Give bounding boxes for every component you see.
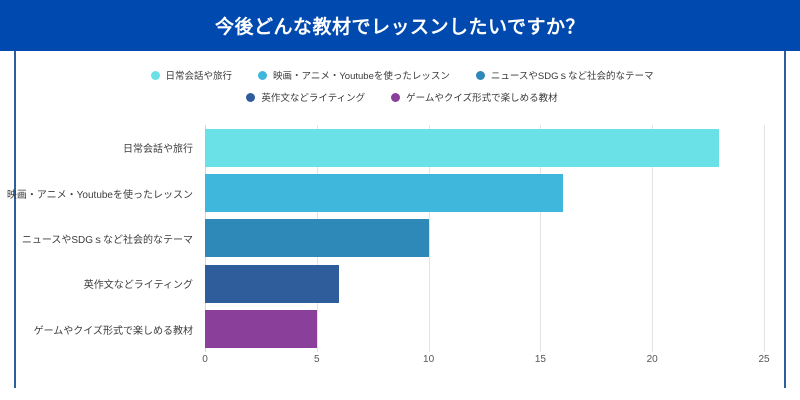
x-axis-tick-label: 15	[535, 354, 546, 365]
chart-header-banner: 今後どんな教材でレッスンしたいですか？	[0, 0, 800, 51]
plot-area: 日常会話や旅行映画・アニメ・Youtubeを使ったレッスンニュースやSDGｓなど…	[16, 51, 788, 388]
y-axis-tick-row: 英作文などライティング	[16, 261, 199, 306]
x-axis-tick-label: 5	[314, 354, 320, 365]
bar[interactable]	[205, 174, 563, 212]
y-axis-tick-row: ゲームやクイズ形式で楽しめる教材	[16, 307, 199, 352]
bar-row	[205, 125, 764, 170]
y-axis-tick-label: ゲームやクイズ形式で楽しめる教材	[34, 322, 199, 337]
bar-row	[205, 170, 764, 215]
x-axis-tick-label: 0	[202, 354, 208, 365]
page-title: 今後どんな教材でレッスンしたいですか？	[215, 12, 585, 39]
chart-screenshot: 今後どんな教材でレッスンしたいですか？ 日常会話や旅行映画・アニメ・Youtub…	[0, 0, 800, 400]
y-axis-tick-row: 映画・アニメ・Youtubeを使ったレッスン	[16, 170, 199, 215]
y-axis-tick-label: 英作文などライティング	[84, 276, 199, 291]
x-axis-labels: 0510152025	[205, 354, 764, 374]
y-axis-tick-label: 映画・アニメ・Youtubeを使ったレッスン	[7, 186, 199, 201]
bars-container	[205, 125, 764, 352]
x-axis-tick-label: 10	[423, 354, 434, 365]
x-axis-tick-label: 25	[758, 354, 769, 365]
bar-row	[205, 261, 764, 306]
y-axis-tick-row: 日常会話や旅行	[16, 125, 199, 170]
bar[interactable]	[205, 129, 719, 167]
bar-row	[205, 307, 764, 352]
y-axis-tick-row: ニュースやSDGｓなど社会的なテーマ	[16, 216, 199, 261]
gridline	[764, 125, 765, 352]
y-axis-tick-label: ニュースやSDGｓなど社会的なテーマ	[22, 231, 199, 246]
bar[interactable]	[205, 265, 339, 303]
bar[interactable]	[205, 219, 429, 257]
chart-card: 日常会話や旅行映画・アニメ・Youtubeを使ったレッスンニュースやSDGｓなど…	[14, 51, 786, 388]
x-axis-tick-label: 20	[647, 354, 658, 365]
y-axis-labels: 日常会話や旅行映画・アニメ・Youtubeを使ったレッスンニュースやSDGｓなど…	[16, 125, 199, 352]
bar[interactable]	[205, 310, 317, 348]
bar-row	[205, 216, 764, 261]
y-axis-tick-label: 日常会話や旅行	[123, 140, 199, 155]
